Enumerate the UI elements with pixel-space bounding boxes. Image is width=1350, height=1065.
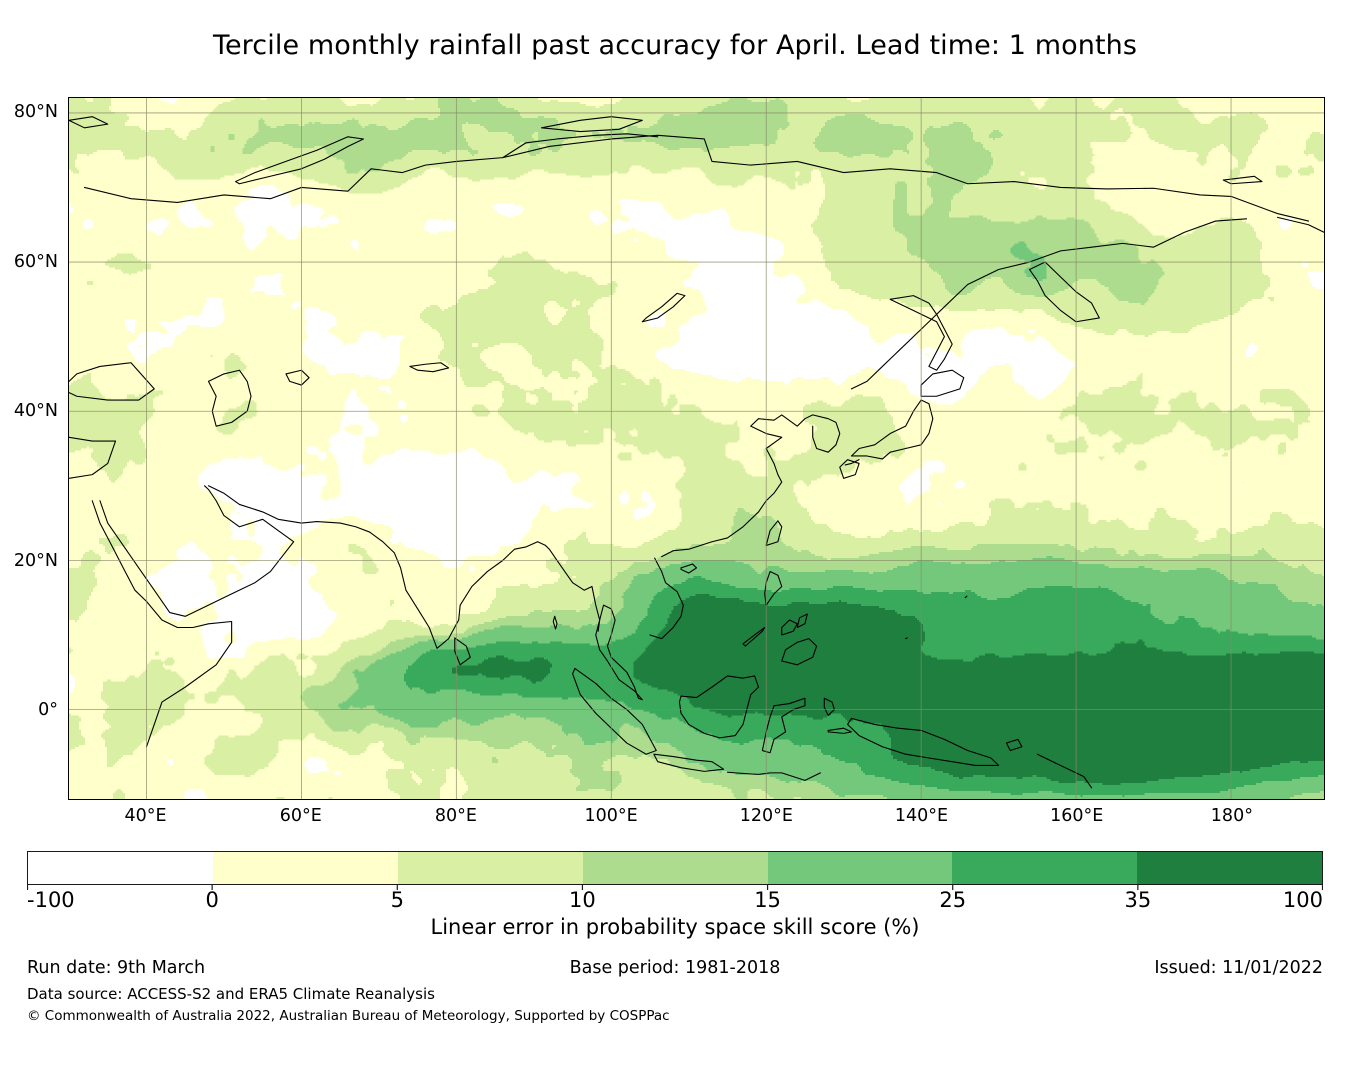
- latitude-tick-label: 0°: [38, 700, 58, 720]
- issued-date-text: Issued: 11/01/2022: [1154, 958, 1323, 978]
- colorbar-segment: [583, 852, 768, 884]
- data-source-text: Data source: ACCESS-S2 and ERA5 Climate …: [27, 985, 435, 1003]
- map-plot-area[interactable]: [68, 97, 1325, 800]
- footer-row-primary: Run date: 9th March Base period: 1981-20…: [0, 958, 1350, 982]
- colorbar-gradient: [27, 851, 1323, 885]
- graticule-overlay: [69, 98, 1324, 799]
- latitude-tick-label: 60°N: [14, 252, 58, 272]
- colorbar-segment: [1137, 852, 1322, 884]
- colorbar-segment: [952, 852, 1137, 884]
- latitude-tick-label: 80°N: [14, 102, 58, 122]
- footer: Run date: 9th March Base period: 1981-20…: [0, 958, 1350, 1028]
- colorbar-segment: [398, 852, 583, 884]
- longitude-tick-label: 80°E: [435, 806, 477, 826]
- longitude-tick-label: 60°E: [280, 806, 322, 826]
- longitude-tick-label: 40°E: [125, 806, 167, 826]
- longitude-tick-label: 140°E: [895, 806, 948, 826]
- colorbar[interactable]: [27, 851, 1323, 885]
- latitude-tick-label: 20°N: [14, 551, 58, 571]
- latitude-tick-label: 40°N: [14, 401, 58, 421]
- copyright-text: © Commonwealth of Australia 2022, Austra…: [27, 1008, 670, 1024]
- base-period-text: Base period: 1981-2018: [0, 958, 1350, 978]
- colorbar-segment: [213, 852, 398, 884]
- colorbar-segment: [28, 852, 213, 884]
- longitude-tick-label: 100°E: [585, 806, 638, 826]
- page-title: Tercile monthly rainfall past accuracy f…: [0, 30, 1350, 61]
- colorbar-title: Linear error in probability space skill …: [0, 915, 1350, 939]
- longitude-tick-label: 180°: [1211, 806, 1253, 826]
- colorbar-tick-marks: [27, 885, 1323, 893]
- longitude-tick-label: 160°E: [1050, 806, 1103, 826]
- longitude-tick-label: 120°E: [740, 806, 793, 826]
- colorbar-segment: [768, 852, 953, 884]
